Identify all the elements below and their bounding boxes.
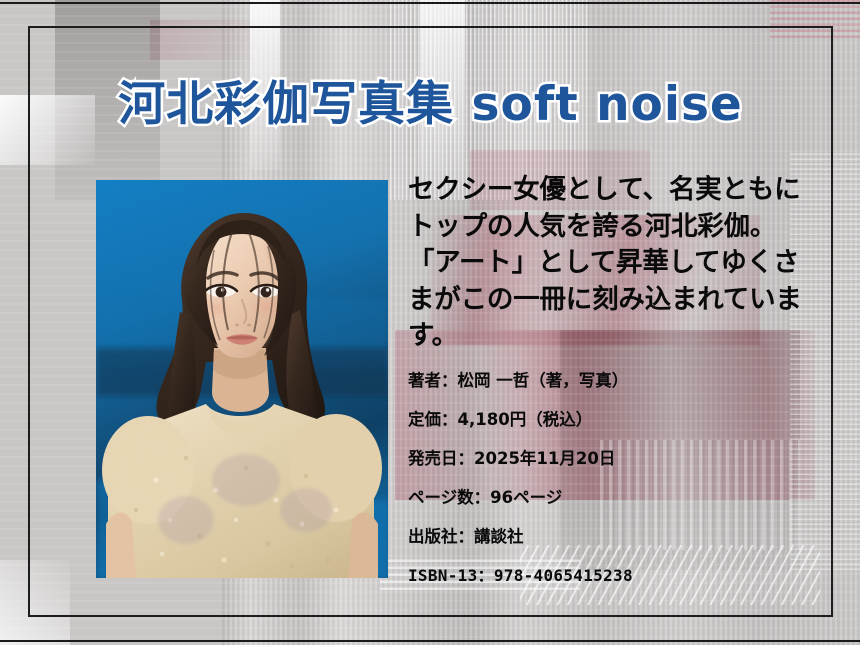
meta-row-price: 定価：4,180円（税込） [408, 406, 818, 430]
book-description: セクシー女優として、名実ともにトップの人気を誇る河北彩伽。「アート」として昇華し… [408, 172, 808, 355]
meta-row-release: 発売日：2025年11月20日 [408, 445, 818, 469]
book-cover-photo [96, 180, 388, 578]
meta-row-pages: ページ数：96ページ [408, 484, 818, 508]
outer-frame-top-rule [0, 2, 860, 4]
outer-frame-bottom-rule [0, 640, 860, 642]
meta-row-publisher: 出版社：講談社 [408, 523, 818, 547]
title-band: 河北彩伽写真集 soft noise [28, 60, 833, 138]
book-info-column: セクシー女優として、名実ともにトップの人気を誇る河北彩伽。「アート」として昇華し… [408, 172, 818, 601]
page-title: 河北彩伽写真集 soft noise [118, 65, 743, 134]
meta-row-author: 著者：松岡 一哲（著，写真） [408, 367, 818, 391]
book-meta-list: 著者：松岡 一哲（著，写真） 定価：4,180円（税込） 発売日：2025年11… [408, 367, 818, 586]
book-promo-slide: 河北彩伽写真集 soft noise [0, 0, 860, 645]
meta-row-isbn: ISBN-13：978-4065415238 [408, 562, 818, 586]
